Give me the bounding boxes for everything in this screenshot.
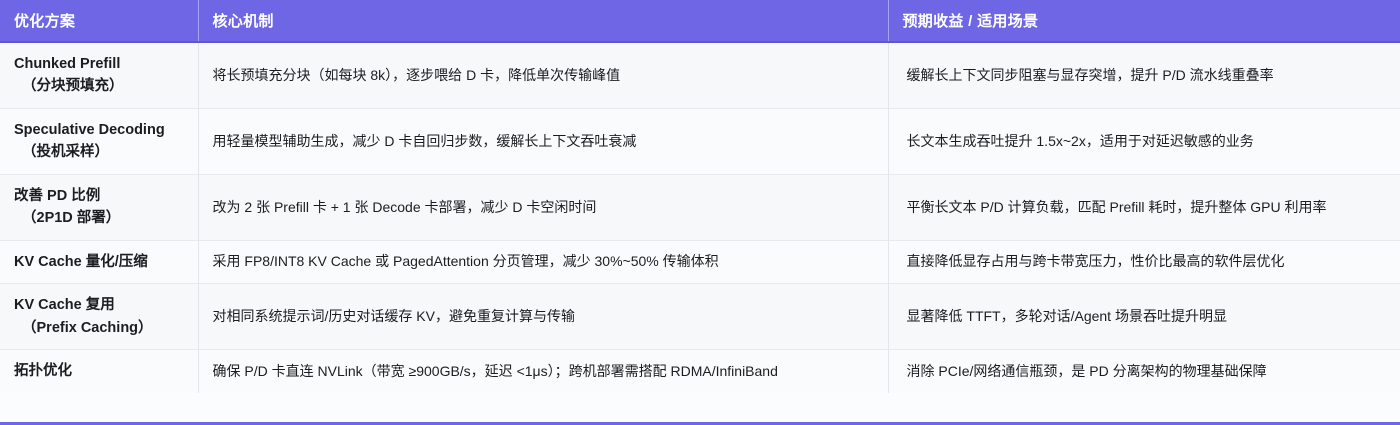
table-row: KV Cache 复用 （Prefix Caching） 对相同系统提示词/历史… bbox=[0, 284, 1400, 350]
table-header-row: 优化方案 核心机制 预期收益 / 适用场景 bbox=[0, 0, 1400, 42]
table-header: 优化方案 核心机制 预期收益 / 适用场景 bbox=[0, 0, 1400, 42]
cell-mechanism: 确保 P/D 卡直连 NVLink（带宽 ≥900GB/s，延迟 <1μs）；跨… bbox=[198, 350, 888, 393]
scheme-name-sub: （2P1D 部署） bbox=[14, 207, 188, 229]
scheme-name-main: 拓扑优化 bbox=[14, 363, 72, 379]
table-row: 拓扑优化 确保 P/D 卡直连 NVLink（带宽 ≥900GB/s，延迟 <1… bbox=[0, 350, 1400, 393]
scheme-name-main: Speculative Decoding bbox=[14, 122, 165, 138]
cell-benefit: 平衡长文本 P/D 计算负载，匹配 Prefill 耗时，提升整体 GPU 利用… bbox=[888, 174, 1400, 240]
cell-benefit: 缓解长上下文同步阻塞与显存突增，提升 P/D 流水线重叠率 bbox=[888, 42, 1400, 108]
table-row: Chunked Prefill （分块预填充） 将长预填充分块（如每块 8k），… bbox=[0, 42, 1400, 108]
cell-benefit: 显著降低 TTFT，多轮对话/Agent 场景吞吐提升明显 bbox=[888, 284, 1400, 350]
scheme-name-sub: （Prefix Caching） bbox=[14, 317, 188, 339]
optimization-table: 优化方案 核心机制 预期收益 / 适用场景 Chunked Prefill （分… bbox=[0, 0, 1400, 393]
cell-benefit: 直接降低显存占用与跨卡带宽压力，性价比最高的软件层优化 bbox=[888, 240, 1400, 283]
cell-mechanism: 采用 FP8/INT8 KV Cache 或 PagedAttention 分页… bbox=[198, 240, 888, 283]
scheme-name-main: KV Cache 复用 bbox=[14, 297, 115, 313]
cell-scheme: 改善 PD 比例 （2P1D 部署） bbox=[0, 174, 198, 240]
cell-mechanism: 改为 2 张 Prefill 卡 + 1 张 Decode 卡部署，减少 D 卡… bbox=[198, 174, 888, 240]
column-header-mechanism: 核心机制 bbox=[198, 0, 888, 42]
scheme-name-main: Chunked Prefill bbox=[14, 56, 120, 72]
column-header-scheme: 优化方案 bbox=[0, 0, 198, 42]
table-row: KV Cache 量化/压缩 采用 FP8/INT8 KV Cache 或 Pa… bbox=[0, 240, 1400, 283]
cell-scheme: Chunked Prefill （分块预填充） bbox=[0, 42, 198, 108]
table-body: Chunked Prefill （分块预填充） 将长预填充分块（如每块 8k），… bbox=[0, 42, 1400, 393]
scheme-name-sub: （投机采样） bbox=[14, 141, 188, 163]
cell-scheme: 拓扑优化 bbox=[0, 350, 198, 393]
cell-scheme: KV Cache 量化/压缩 bbox=[0, 240, 198, 283]
table-row: Speculative Decoding （投机采样） 用轻量模型辅助生成，减少… bbox=[0, 108, 1400, 174]
cell-benefit: 长文本生成吞吐提升 1.5x~2x，适用于对延迟敏感的业务 bbox=[888, 108, 1400, 174]
cell-scheme: KV Cache 复用 （Prefix Caching） bbox=[0, 284, 198, 350]
cell-mechanism: 将长预填充分块（如每块 8k），逐步喂给 D 卡，降低单次传输峰值 bbox=[198, 42, 888, 108]
column-header-benefit: 预期收益 / 适用场景 bbox=[888, 0, 1400, 42]
optimization-table-container: 优化方案 核心机制 预期收益 / 适用场景 Chunked Prefill （分… bbox=[0, 0, 1400, 425]
scheme-name-sub: （分块预填充） bbox=[14, 75, 188, 97]
scheme-name-main: KV Cache 量化/压缩 bbox=[14, 254, 148, 270]
cell-mechanism: 对相同系统提示词/历史对话缓存 KV，避免重复计算与传输 bbox=[198, 284, 888, 350]
table-row: 改善 PD 比例 （2P1D 部署） 改为 2 张 Prefill 卡 + 1 … bbox=[0, 174, 1400, 240]
cell-benefit: 消除 PCIe/网络通信瓶颈，是 PD 分离架构的物理基础保障 bbox=[888, 350, 1400, 393]
cell-mechanism: 用轻量模型辅助生成，减少 D 卡自回归步数，缓解长上下文吞吐衰减 bbox=[198, 108, 888, 174]
cell-scheme: Speculative Decoding （投机采样） bbox=[0, 108, 198, 174]
scheme-name-main: 改善 PD 比例 bbox=[14, 188, 100, 204]
